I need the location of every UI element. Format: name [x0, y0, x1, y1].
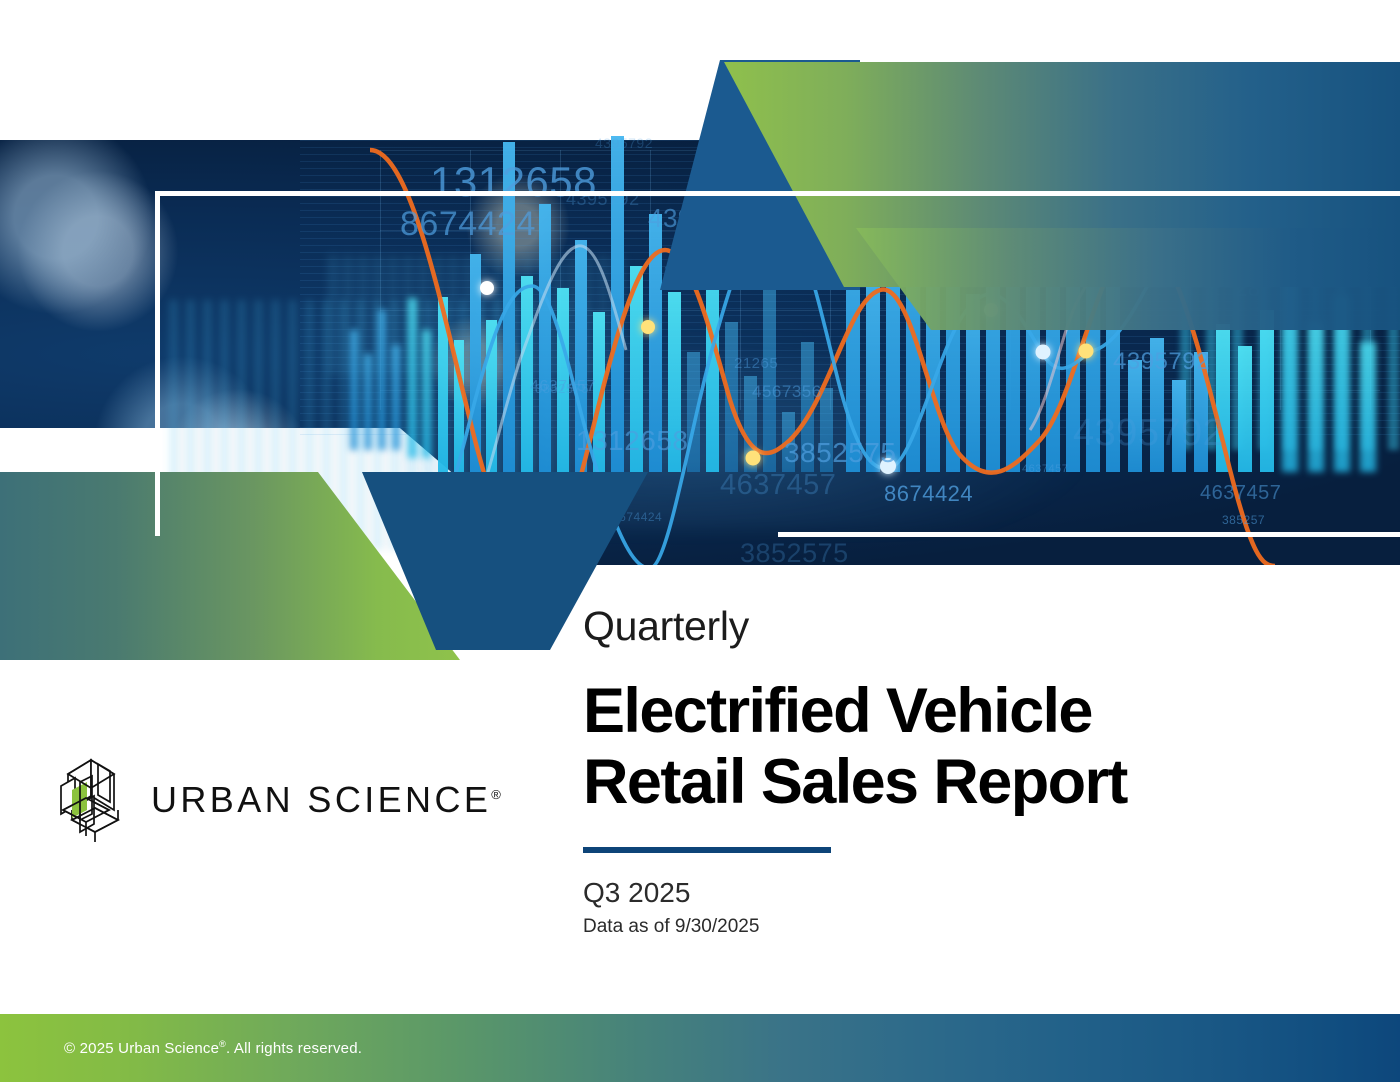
- copyright-notice: © 2025 Urban Science®. All rights reserv…: [64, 1039, 362, 1057]
- hero-number-overlay: 4567356: [752, 382, 822, 402]
- hero-banner: 1312658131265845673586744244395792439579…: [0, 0, 1400, 660]
- white-frame-left-line: [155, 191, 160, 536]
- hero-number-overlay: 385257: [1222, 513, 1265, 527]
- hero-number-overlay: 4637457: [1200, 482, 1281, 505]
- page-title-line-2: Retail Sales Report: [583, 747, 1343, 818]
- hero-number-overlay: 4395792: [1113, 348, 1210, 376]
- title-accent-rule: [583, 847, 831, 853]
- report-data-as-of: Data as of 9/30/2025: [583, 916, 1343, 938]
- white-frame-bottom-line: [778, 532, 1400, 537]
- hero-number-overlay: 4395792: [595, 135, 653, 151]
- hero-number-overlay: 21265: [734, 355, 778, 372]
- report-cover-page: 1312658131265845673586744244395792439579…: [0, 0, 1400, 1082]
- copyright-prefix: © 2025 Urban Science: [64, 1040, 219, 1057]
- hero-number-overlay: 8674424: [400, 205, 536, 244]
- copyright-suffix: . All rights reserved.: [226, 1040, 362, 1057]
- logo-wordmark-text: URBAN SCIENCE: [151, 779, 491, 820]
- registered-trademark-icon: ®: [491, 787, 501, 802]
- hero-number-overlay: 4637457: [1022, 463, 1068, 475]
- hero-number-overlay: 3852575: [535, 381, 589, 396]
- hero-number-overlay: 3852575: [784, 437, 897, 469]
- hero-number-overlay: 8674424: [884, 481, 973, 507]
- hero-number-overlay: 4395792: [1073, 412, 1224, 455]
- page-title: Electrified Vehicle Retail Sales Report: [583, 676, 1343, 817]
- urban-science-logo[interactable]: URBAN SCIENCE®: [58, 752, 501, 848]
- page-footer: © 2025 Urban Science®. All rights reserv…: [0, 1014, 1400, 1082]
- report-kicker: Quarterly: [583, 605, 1343, 648]
- hero-number-overlay: 4637457: [720, 469, 836, 502]
- hero-number-overlay: 3852575: [740, 538, 849, 569]
- footer-registered-trademark-icon: ®: [219, 1039, 226, 1049]
- report-quarter: Q3 2025: [583, 877, 1343, 909]
- page-title-line-1: Electrified Vehicle: [583, 676, 1343, 747]
- hero-number-overlay: 1312658: [576, 425, 689, 457]
- green-teal-band-top-2: [856, 228, 1400, 330]
- title-block: Quarterly Electrified Vehicle Retail Sal…: [583, 605, 1343, 938]
- logo-wordmark: URBAN SCIENCE®: [151, 779, 501, 821]
- isometric-cube-logo-icon: [58, 752, 132, 848]
- white-frame-top-line: [155, 191, 1400, 196]
